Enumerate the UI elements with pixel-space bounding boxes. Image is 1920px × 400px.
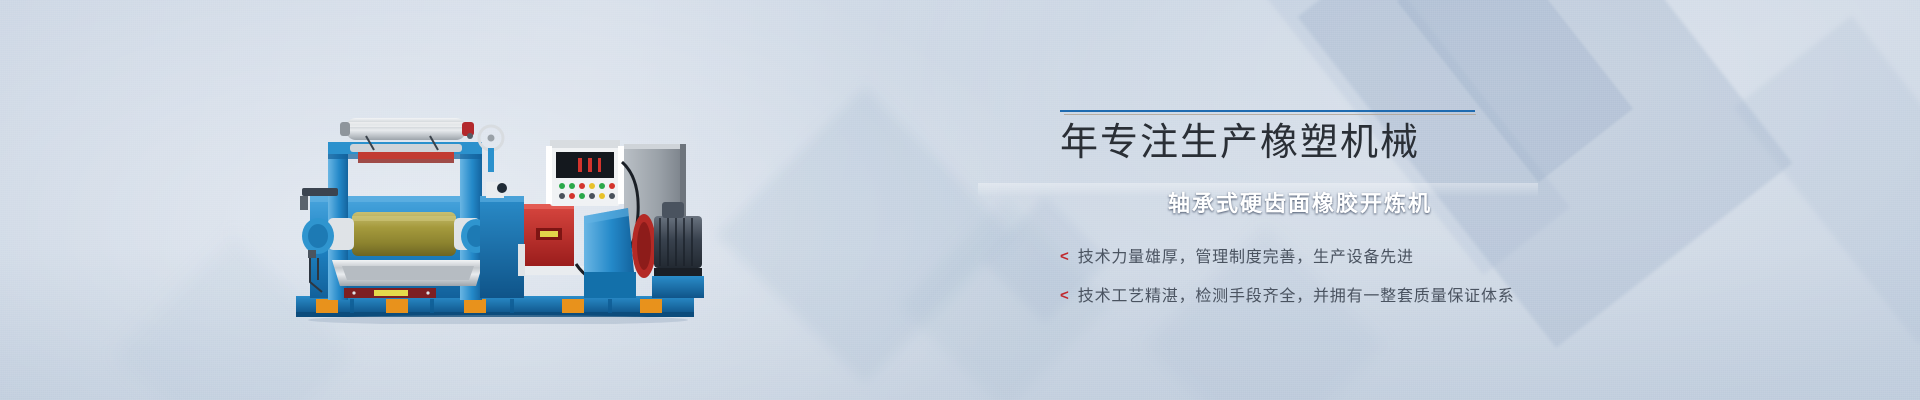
divider-line-primary	[1060, 110, 1475, 112]
list-item: < 技术力量雄厚，管理制度完善，生产设备先进	[1060, 243, 1580, 267]
list-item-label: 技术工艺精湛，检测手段齐全，并拥有一整套质量保证体系	[1078, 282, 1515, 306]
chevron-left-icon: <	[1060, 249, 1069, 264]
decor-geometric-shape	[1734, 16, 1920, 345]
machine-photo	[288, 96, 706, 324]
page-title: 年专注生产橡塑机械	[1060, 121, 1530, 166]
list-item-label: 技术力量雄厚，管理制度完善，生产设备先进	[1078, 243, 1414, 267]
decor-chevron-shape	[717, 87, 1014, 384]
promo-banner: 年专注生产橡塑机械 轴承式硬齿面橡胶开炼机 < 技术力量雄厚，管理制度完善，生产…	[0, 0, 1920, 400]
subtitle-ribbon: 轴承式硬齿面橡胶开炼机	[978, 183, 1538, 221]
banner-copy: 年专注生产橡塑机械 轴承式硬齿面橡胶开炼机 < 技术力量雄厚，管理制度完善，生产…	[1060, 105, 1530, 166]
list-item: < 技术工艺精湛，检测手段齐全，并拥有一整套质量保证体系	[1060, 282, 1580, 306]
feature-list: < 技术力量雄厚，管理制度完善，生产设备先进 < 技术工艺精湛，检测手段齐全，并…	[1060, 243, 1580, 321]
divider-line-secondary	[1064, 114, 1476, 115]
chevron-left-icon: <	[1060, 288, 1069, 303]
subtitle-text: 轴承式硬齿面橡胶开炼机	[1168, 186, 1432, 218]
headline-divider	[1060, 105, 1530, 117]
